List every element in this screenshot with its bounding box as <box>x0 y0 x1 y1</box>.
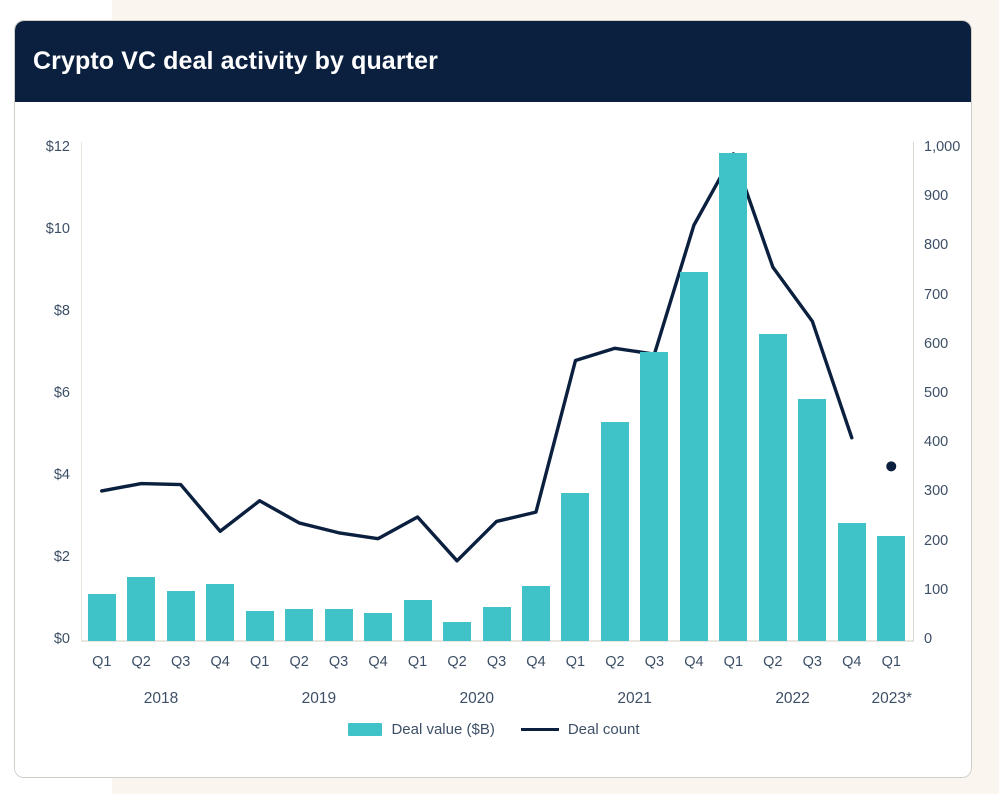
x-tick-label-12: Q1 <box>556 654 595 670</box>
y-tick-right-100: 100 <box>924 582 948 598</box>
bar-q1-2019[interactable] <box>246 611 274 641</box>
bar-q3-2019[interactable] <box>325 609 353 641</box>
y-tick-right-200: 200 <box>924 533 948 549</box>
x-tick-label-0: Q1 <box>82 654 121 670</box>
y-tick-right-500: 500 <box>924 385 948 401</box>
x-tick-label-14: Q3 <box>635 654 674 670</box>
x-tick-label-7: Q4 <box>358 654 397 670</box>
bar-q4-2022[interactable] <box>838 523 866 641</box>
x-axis-year-2021: 2021 <box>556 690 714 708</box>
bar-q4-2020[interactable] <box>522 586 550 641</box>
bar-q1-2020[interactable] <box>404 600 432 641</box>
page-title: Crypto VC deal activity by quarter <box>33 47 438 76</box>
bar-q1-2021[interactable] <box>561 493 589 641</box>
bar-q2-2018[interactable] <box>127 577 155 641</box>
x-tick-label-13: Q2 <box>595 654 634 670</box>
x-tick-label-11: Q4 <box>516 654 555 670</box>
x-axis-year-2018: 2018 <box>82 690 240 708</box>
y-tick-left-usd6: $6 <box>54 385 70 401</box>
y-tick-right-0: 0 <box>924 631 932 647</box>
x-axis-year-2019: 2019 <box>240 690 398 708</box>
bar-q4-2021[interactable] <box>680 272 708 641</box>
y-axis-right-line <box>913 142 914 642</box>
deal-count-last-point-dot[interactable] <box>886 461 896 471</box>
x-tick-label-5: Q2 <box>279 654 318 670</box>
page-root: Crypto VC deal activity by quarter $0$2$… <box>0 0 999 794</box>
x-axis-year-2022: 2022 <box>714 690 872 708</box>
x-tick-label-6: Q3 <box>319 654 358 670</box>
x-tick-label-4: Q1 <box>240 654 279 670</box>
y-tick-right-800: 800 <box>924 237 948 253</box>
x-tick-label-3: Q4 <box>200 654 239 670</box>
x-tick-label-8: Q1 <box>398 654 437 670</box>
y-tick-right-700: 700 <box>924 287 948 303</box>
x-tick-label-1: Q2 <box>121 654 160 670</box>
chart-plot <box>82 149 911 641</box>
y-tick-left-usd10: $10 <box>46 221 70 237</box>
chart-legend: Deal value ($B) Deal count <box>15 721 972 738</box>
y-tick-right-600: 600 <box>924 336 948 352</box>
bar-q4-2018[interactable] <box>206 584 234 641</box>
bar-q3-2018[interactable] <box>167 591 195 641</box>
y-tick-left-usd4: $4 <box>54 467 70 483</box>
bar-q2-2020[interactable] <box>443 622 471 641</box>
bar-q2-2021[interactable] <box>601 422 629 641</box>
x-tick-label-18: Q3 <box>793 654 832 670</box>
legend-label-deal-value: Deal value ($B) <box>391 721 494 738</box>
x-axis-year-2023-est: 2023* <box>872 690 911 708</box>
plot-area: $0$2$4$6$8$10$12 01002003004005006007008… <box>15 102 972 778</box>
bar-q3-2020[interactable] <box>483 607 511 641</box>
y-tick-right-1000: 1,000 <box>924 139 960 155</box>
bar-q4-2019[interactable] <box>364 613 392 641</box>
y-tick-left-usd0: $0 <box>54 631 70 647</box>
bar-q1-2022[interactable] <box>719 153 747 641</box>
chart-card: Crypto VC deal activity by quarter $0$2$… <box>14 20 972 778</box>
y-tick-left-usd8: $8 <box>54 303 70 319</box>
bar-q2-2019[interactable] <box>285 609 313 641</box>
y-tick-left-usd2: $2 <box>54 549 70 565</box>
bar-q1-2023-[interactable] <box>877 536 905 641</box>
x-tick-label-16: Q1 <box>714 654 753 670</box>
x-tick-label-19: Q4 <box>832 654 871 670</box>
y-tick-right-300: 300 <box>924 483 948 499</box>
x-axis-year-2020: 2020 <box>398 690 556 708</box>
x-tick-label-20: Q1 <box>872 654 911 670</box>
legend-item-deal-count[interactable]: Deal count <box>521 721 640 738</box>
y-tick-left-usd12: $12 <box>46 139 70 155</box>
bar-swatch-icon <box>348 723 382 736</box>
x-tick-label-17: Q2 <box>753 654 792 670</box>
legend-label-deal-count: Deal count <box>568 721 640 738</box>
bar-q3-2021[interactable] <box>640 352 668 641</box>
legend-item-deal-value[interactable]: Deal value ($B) <box>348 721 494 738</box>
bar-q1-2018[interactable] <box>88 594 116 641</box>
y-tick-right-400: 400 <box>924 434 948 450</box>
bar-q3-2022[interactable] <box>798 399 826 641</box>
y-tick-right-900: 900 <box>924 188 948 204</box>
x-tick-label-2: Q3 <box>161 654 200 670</box>
bar-q2-2022[interactable] <box>759 334 787 642</box>
x-tick-label-15: Q4 <box>674 654 713 670</box>
card-header: Crypto VC deal activity by quarter <box>15 21 972 102</box>
x-tick-label-9: Q2 <box>437 654 476 670</box>
line-swatch-icon <box>521 728 559 731</box>
x-tick-label-10: Q3 <box>477 654 516 670</box>
